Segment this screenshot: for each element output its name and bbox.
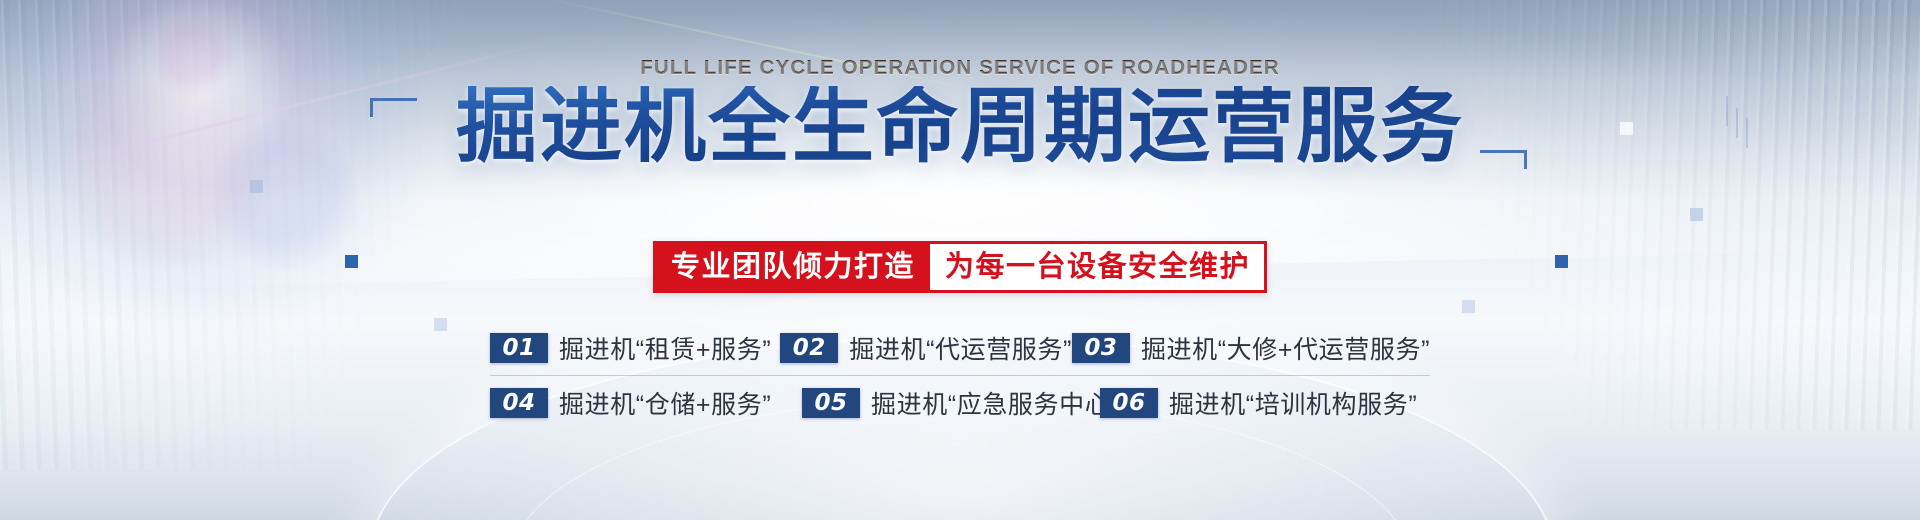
service-number-badge: 02 <box>780 333 838 363</box>
service-label: 掘进机“代运营服务” <box>849 330 1072 366</box>
banner-headline: 掘进机全生命周期运营服务 <box>456 86 1464 168</box>
service-label: 掘进机“应急服务中心” <box>871 385 1119 421</box>
banner-eyebrow-english: FULL LIFE CYCLE OPERATION SERVICE OF ROA… <box>640 56 1279 80</box>
service-row-2: 04 掘进机“仓储+服务” 05 掘进机“应急服务中心” 06 掘进机“培训机构… <box>490 376 1430 430</box>
service-label: 掘进机“大修+代运营服务” <box>1141 330 1430 366</box>
service-item-04[interactable]: 04 掘进机“仓储+服务” <box>490 385 802 421</box>
service-item-05[interactable]: 05 掘进机“应急服务中心” <box>802 385 1100 421</box>
service-number-badge: 01 <box>490 333 548 363</box>
service-item-06[interactable]: 06 掘进机“培训机构服务” <box>1100 385 1417 421</box>
tagline-right: 为每一台设备安全维护 <box>930 244 1264 290</box>
service-item-03[interactable]: 03 掘进机“大修+代运营服务” <box>1072 330 1430 366</box>
service-item-02[interactable]: 02 掘进机“代运营服务” <box>780 330 1072 366</box>
service-number-badge: 05 <box>802 388 860 418</box>
promo-banner: FULL LIFE CYCLE OPERATION SERVICE OF ROA… <box>0 0 1920 520</box>
service-row-1: 01 掘进机“租赁+服务” 02 掘进机“代运营服务” 03 掘进机“大修+代运… <box>490 321 1430 376</box>
service-label: 掘进机“租赁+服务” <box>559 330 771 366</box>
service-number-badge: 04 <box>490 388 548 418</box>
service-label: 掘进机“仓储+服务” <box>559 385 771 421</box>
service-list: 01 掘进机“租赁+服务” 02 掘进机“代运营服务” 03 掘进机“大修+代运… <box>490 321 1430 430</box>
tagline-left: 专业团队倾力打造 <box>656 244 930 290</box>
tagline-bar: 专业团队倾力打造 为每一台设备安全维护 <box>653 241 1267 293</box>
service-number-badge: 03 <box>1072 333 1130 363</box>
service-item-01[interactable]: 01 掘进机“租赁+服务” <box>490 330 780 366</box>
banner-content: FULL LIFE CYCLE OPERATION SERVICE OF ROA… <box>0 0 1920 520</box>
service-label: 掘进机“培训机构服务” <box>1169 385 1417 421</box>
service-number-badge: 06 <box>1100 388 1158 418</box>
